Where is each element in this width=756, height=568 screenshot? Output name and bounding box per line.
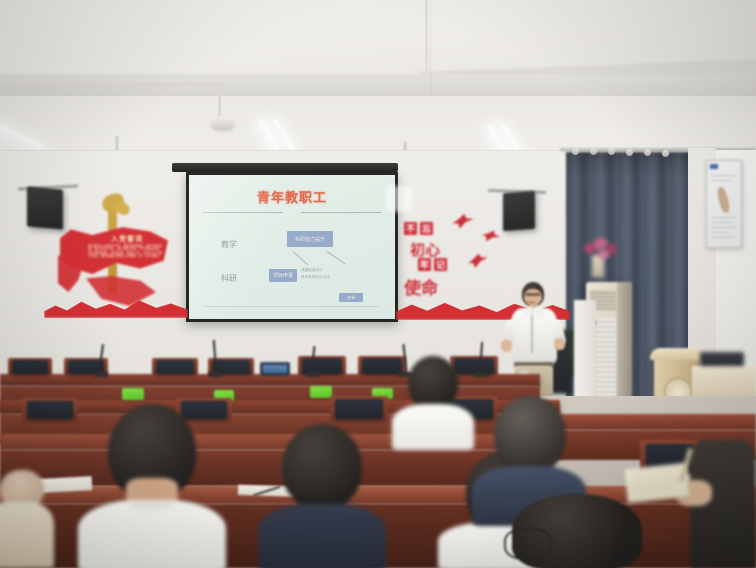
projection-screen[interactable]: 青年教职工 教学 科研 科研能力提升 项目申报 成果 课题组建设与 青年教师成长… [186, 172, 398, 322]
boxed-char-4: 记 [434, 258, 447, 271]
curtain-ring [572, 148, 579, 155]
chair-back [12, 360, 48, 374]
boxed-char-2: 忘 [420, 222, 433, 235]
curtain-ring [662, 150, 669, 157]
shirt-placket [531, 309, 533, 353]
chair-back [27, 401, 73, 419]
curtain-ring [626, 149, 633, 156]
podium-equipment [700, 352, 744, 366]
audience-person-2 [0, 470, 54, 568]
presenter-hand-right [554, 338, 565, 350]
audience-person-1 [78, 404, 226, 568]
microphone-base [306, 372, 320, 377]
slide-note-1: 课题组建设与 [301, 268, 323, 273]
wall-vent-grille [596, 318, 616, 400]
notice-board-figure-icon [716, 186, 731, 213]
notebook[interactable] [624, 463, 689, 503]
slide-arrow-left [293, 251, 309, 265]
dove-icon [451, 213, 475, 230]
slide-arrow-right [327, 251, 346, 264]
slide-label-teaching: 教学 [221, 239, 237, 250]
audience-person-3 [258, 424, 386, 568]
microphone-base [474, 372, 488, 377]
boxed-char-3: 牢 [418, 258, 431, 271]
dove-icon [481, 229, 501, 244]
photo-scene: 入党誓词 我志愿加入中国共产党，拥护党的纲领，遵守党的章程，履行党员义务，执行党… [0, 0, 756, 568]
slide-box-top: 科研能力提升 [287, 231, 333, 247]
laptop[interactable] [260, 362, 290, 376]
glasses-icon [504, 528, 552, 560]
flower-icon [598, 250, 609, 259]
curtain-ring [608, 148, 615, 155]
glasses-icon [525, 293, 541, 296]
projection-screen-surface: 青年教职工 教学 科研 科研能力提升 项目申报 成果 课题组建设与 青年教师成长… [189, 175, 395, 319]
curtain-ring [644, 149, 651, 156]
ceiling-joint [430, 0, 431, 96]
brush-char-2: 使命 [404, 274, 438, 299]
microphone-base [208, 372, 222, 377]
ceiling-drop-rod [218, 86, 221, 120]
audience-person-4 [392, 356, 474, 448]
notice-board-logo-icon [710, 164, 718, 169]
slide-box-small: 成果 [339, 293, 363, 302]
projector-light-spill [386, 186, 412, 212]
green-item[interactable] [122, 388, 144, 400]
curtain-ring [590, 148, 597, 155]
slide-box-mid: 项目申报 [269, 269, 297, 282]
green-item[interactable] [310, 386, 332, 398]
microphone-base [94, 372, 108, 377]
oath-title: 入党誓词 [94, 234, 160, 244]
notice-board[interactable] [706, 160, 742, 248]
presenter-shirt [511, 308, 557, 364]
slide-title: 青年教职工 [189, 187, 395, 206]
slide-label-research: 科研 [221, 273, 237, 284]
slide-note-2: 青年教师成长支持 [301, 275, 330, 280]
oath-body: 我志愿加入中国共产党，拥护党的纲领，遵守党的章程，履行党员义务，执行党的决定，严… [88, 245, 162, 259]
ceiling-conduit [425, 0, 428, 78]
boxed-char-1: 不 [404, 222, 417, 235]
chair-back [335, 399, 383, 419]
presenter-hand-left [501, 340, 512, 352]
dove-icon [467, 252, 490, 269]
wall-art-party-oath: 入党誓词 我志愿加入中国共产党，拥护党的纲领，遵守党的章程，履行党员义务，执行党… [58, 196, 182, 316]
brush-char-1: 初心 [410, 239, 440, 260]
smoke-detector-icon [212, 116, 234, 129]
audience-person-7 [492, 494, 660, 568]
projector-screen-roller[interactable] [172, 163, 398, 172]
chair-back [156, 360, 194, 374]
